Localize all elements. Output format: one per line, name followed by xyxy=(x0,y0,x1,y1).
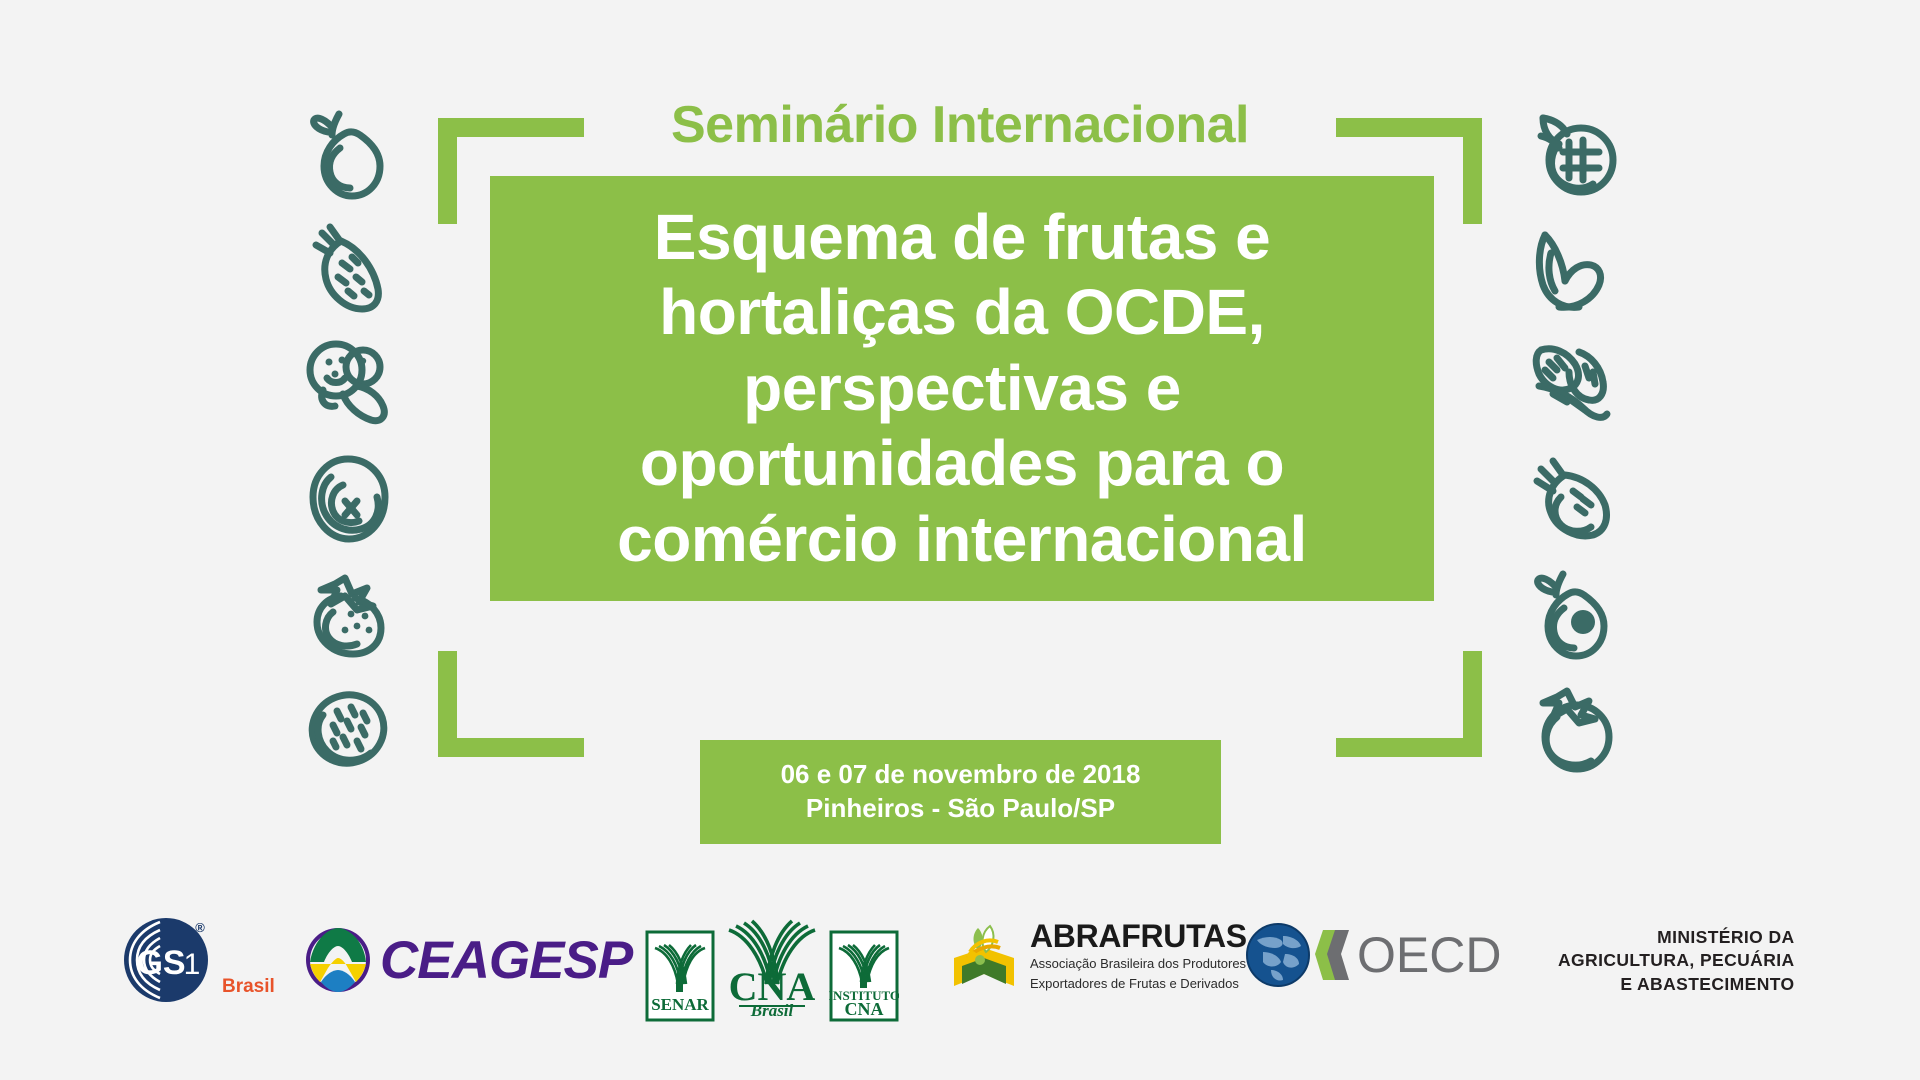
oecd-globe-icon xyxy=(1245,922,1311,988)
page-title: Esquema de frutas e hortaliças da OCDE, … xyxy=(599,200,1325,578)
title-panel: Esquema de frutas e hortaliças da OCDE, … xyxy=(490,176,1434,601)
bracket-corner-bottom-right xyxy=(1336,651,1482,757)
title-line: Esquema de frutas e xyxy=(617,200,1307,276)
ceagesp-wordmark: CEAGESP xyxy=(380,934,632,987)
abrafrutas-subtitle-line-1: Associação Brasileira dos Produtores xyxy=(1030,955,1247,972)
gs1-mark-icon: GS 1 ® xyxy=(118,910,218,1010)
svg-text:®: ® xyxy=(195,920,205,935)
strawberry-icon xyxy=(293,556,403,671)
senar-mark-icon: SENAR xyxy=(645,930,715,1022)
melon-icon xyxy=(293,671,403,786)
logo-abrafrutas: ABRAFRUTAS Associação Brasileira dos Pro… xyxy=(948,918,1247,994)
logo-gs1-brasil: GS 1 ® Brasil xyxy=(118,910,218,1010)
svg-text:Brasil: Brasil xyxy=(750,1001,794,1020)
tomato-icon xyxy=(1517,671,1627,786)
poster-canvas: Seminário Internacional Esquema de fruta… xyxy=(0,0,1920,1080)
logo-cna-group: SENAR CNA Brasil xyxy=(645,914,899,1022)
banana-leaf-icon xyxy=(1517,211,1627,326)
abrafrutas-title: ABRAFRUTAS xyxy=(1030,920,1247,952)
cabbage-icon xyxy=(293,441,403,556)
logo-ministerio-agricultura: MINISTÉRIO DA AGRICULTURA, PECUÁRIA E AB… xyxy=(1558,926,1795,996)
bracket-segment-vertical xyxy=(438,651,457,757)
ministerio-line-2: AGRICULTURA, PECUÁRIA xyxy=(1558,949,1795,972)
svg-text:CNA: CNA xyxy=(845,999,884,1019)
event-details-panel: 06 e 07 de novembro de 2018 Pinheiros - … xyxy=(700,740,1221,844)
ministerio-line-1: MINISTÉRIO DA xyxy=(1558,926,1795,949)
instituto-cna-mark-icon: INSTITUTO CNA xyxy=(829,930,899,1022)
event-date: 06 e 07 de novembro de 2018 xyxy=(781,759,1141,791)
decor-icon-column-right xyxy=(1512,96,1632,786)
corn-pods-icon xyxy=(1517,326,1627,441)
bracket-segment-horizontal xyxy=(1336,738,1482,757)
title-line: hortaliças da OCDE, xyxy=(617,275,1307,351)
logo-ceagesp: CEAGESP xyxy=(290,918,632,1002)
oecd-wordmark: OECD xyxy=(1357,930,1501,980)
title-line: comércio internacional xyxy=(617,502,1307,578)
event-location: Pinheiros - São Paulo/SP xyxy=(806,793,1115,825)
svg-text:GS: GS xyxy=(136,944,185,982)
title-line: oportunidades para o xyxy=(617,426,1307,502)
ministerio-line-3: E ABASTECIMENTO xyxy=(1558,973,1795,996)
ceagesp-mark-icon xyxy=(290,918,374,1002)
svg-text:1: 1 xyxy=(184,948,201,981)
sponsor-logo-strip: GS 1 ® Brasil CEAGESP xyxy=(0,890,1920,1050)
event-kicker: Seminário Internacional xyxy=(0,95,1920,155)
svg-text:SENAR: SENAR xyxy=(651,995,709,1014)
title-line: perspectivas e xyxy=(617,351,1307,427)
logo-oecd: OECD xyxy=(1245,922,1501,988)
oecd-chevrons-icon xyxy=(1313,924,1355,986)
carrot-icon xyxy=(293,211,403,326)
beet-icon xyxy=(1517,441,1627,556)
abrafrutas-mark-icon xyxy=(948,918,1020,994)
avocado-icon xyxy=(1517,556,1627,671)
bracket-segment-vertical xyxy=(1463,651,1482,757)
decor-icon-column-left xyxy=(288,96,408,786)
cna-brasil-mark-icon: CNA Brasil xyxy=(719,914,825,1022)
abrafrutas-subtitle-line-2: Exportadores de Frutas e Derivados xyxy=(1030,975,1247,992)
bracket-segment-horizontal xyxy=(438,738,584,757)
gs1-brasil-label: Brasil xyxy=(222,976,275,998)
ministerio-wordmark: MINISTÉRIO DA AGRICULTURA, PECUÁRIA E AB… xyxy=(1558,926,1795,996)
abrafrutas-wordmark: ABRAFRUTAS Associação Brasileira dos Pro… xyxy=(1030,920,1247,992)
broccoli-icon xyxy=(293,326,403,441)
bracket-corner-bottom-left xyxy=(438,651,584,757)
